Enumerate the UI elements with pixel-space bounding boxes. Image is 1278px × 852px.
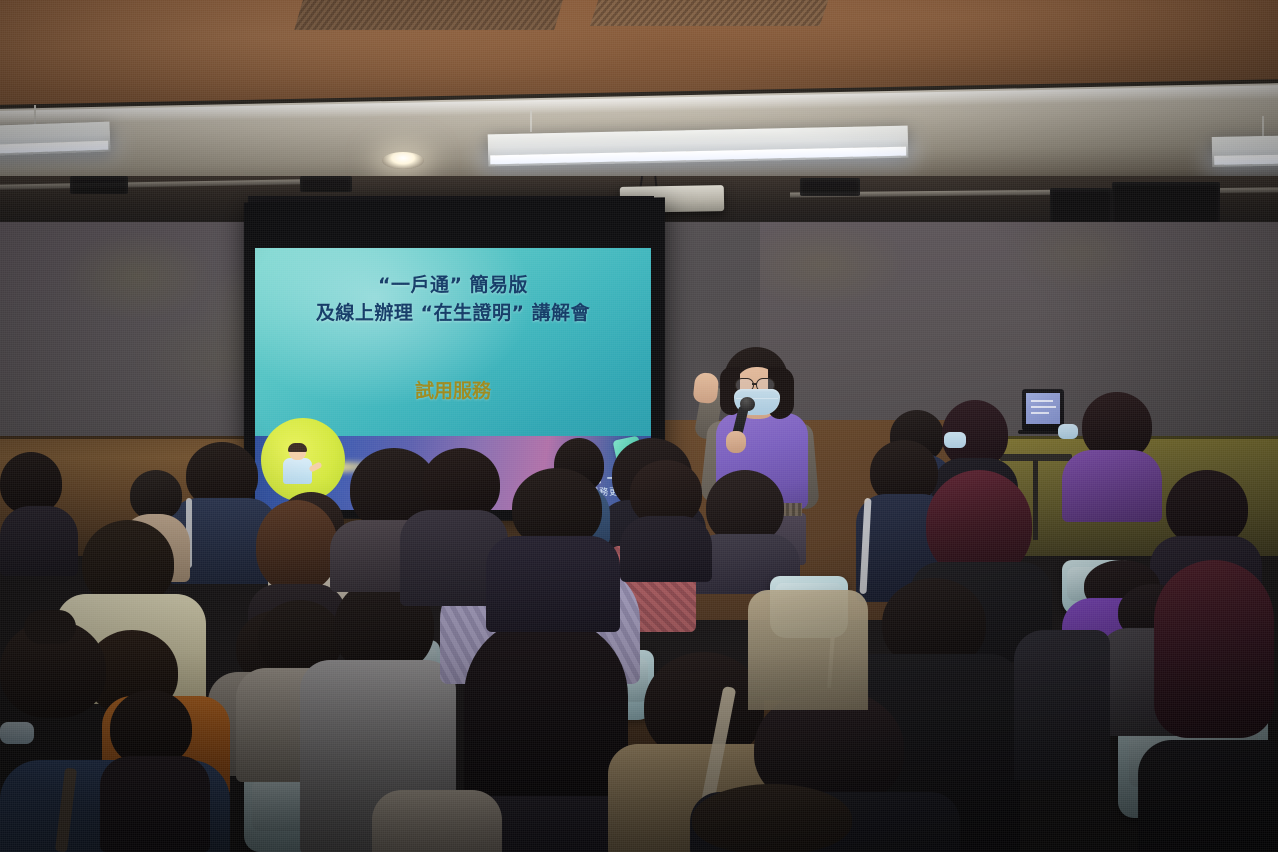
slide-mascot-hair [288, 443, 307, 452]
light-stem-left [34, 105, 36, 125]
presenter-mic-hand [726, 431, 746, 453]
torso [1014, 630, 1110, 780]
attendee-right-burgundy-long-hair [1150, 560, 1278, 760]
attendee-far-right-beige [1014, 630, 1110, 780]
ceiling-mount-left [70, 176, 128, 194]
light-stem-center [530, 110, 532, 132]
attendee-mask-left-side [0, 722, 34, 744]
hair-bun [24, 610, 76, 644]
laptop-screen-text-line [1031, 400, 1053, 402]
slide-title-line1: “一戶通” 簡易版 [378, 274, 528, 296]
seminar-photo: “一戶通” 簡易版 及線上辦理 “在生證明” 講解會 試用服務 手機 一戶通 服… [0, 0, 1278, 852]
attendee-grey-right-of-cream [100, 690, 210, 852]
laptop-screen-text-line [1031, 406, 1056, 408]
attendee-dark-center-front [620, 460, 712, 580]
attendee-purple-top [1062, 392, 1162, 522]
attendee-fur-collar [372, 790, 502, 852]
mask [0, 722, 34, 744]
ceiling-downlight [382, 152, 424, 169]
mask [1058, 424, 1078, 439]
ceiling-vent-grille-secondary [590, 0, 830, 26]
laptop-screen [1026, 393, 1060, 424]
ceiling-mount-right [800, 178, 860, 196]
attendee-strap [60, 768, 74, 852]
slide-mascot-body [283, 458, 312, 484]
head [706, 470, 784, 544]
fluorescent-light-left [0, 122, 110, 157]
torso [100, 756, 210, 852]
torso [486, 536, 620, 632]
head [130, 470, 182, 520]
light-stem-right [1262, 116, 1264, 138]
slide-title-line2: 及線上辦理 “在生證明” 講解會 [255, 300, 651, 328]
collar [372, 790, 502, 852]
head [1154, 560, 1274, 738]
head [692, 784, 852, 852]
head [0, 452, 62, 514]
light-tube [1214, 154, 1278, 165]
head [1166, 470, 1248, 546]
attendee-mask-right [1058, 424, 1078, 439]
attendee-right-black-front [1138, 740, 1278, 852]
torso [748, 590, 868, 710]
torso [620, 516, 712, 582]
presenter-glasses-bridge [752, 383, 757, 385]
laptop-screen-text-line [1031, 412, 1049, 414]
slide-title: “一戶通” 簡易版 及線上辦理 “在生證明” 講解會 [255, 272, 651, 327]
fluorescent-light-right [1212, 135, 1278, 167]
presenter-raised-hand [692, 372, 719, 404]
torso [1062, 450, 1162, 522]
ceiling-vent-grille [294, 0, 565, 30]
torso [1138, 740, 1278, 852]
attendee-black-front-center-right [486, 468, 620, 628]
head [110, 690, 192, 766]
slide-subtitle: 試用服務 [255, 376, 651, 403]
ceiling-mount-mid [300, 176, 352, 192]
attendee-beige-coat-right [748, 590, 868, 710]
attendee-bottom-center-head [668, 784, 888, 852]
